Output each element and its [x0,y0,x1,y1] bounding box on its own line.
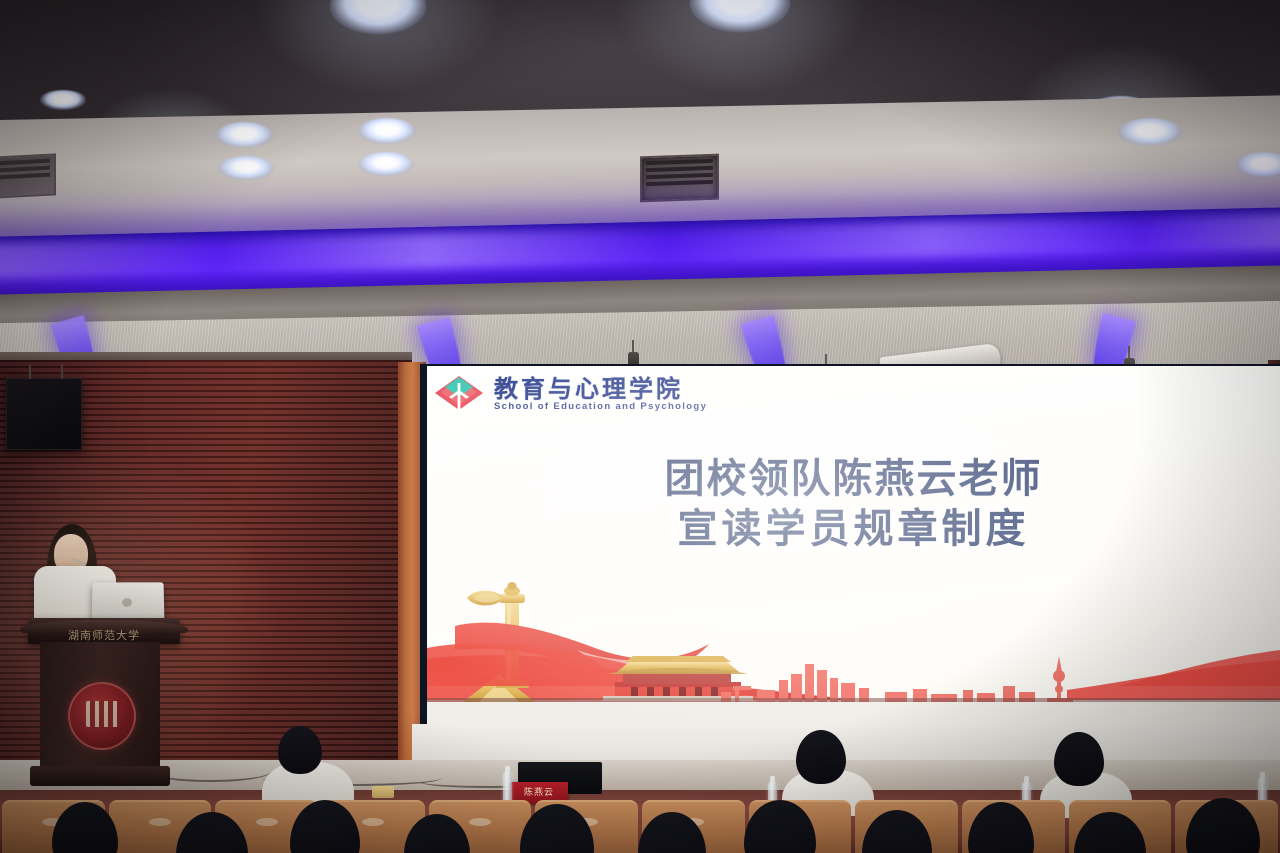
recessed-downlight [330,0,426,34]
slide-logo: 教育与心理学院 School of Education and Psycholo… [433,374,707,418]
recessed-downlight [40,90,86,110]
slide-artwork [427,564,1280,724]
slide-title-line-2: 宣读学员规章制度 [427,504,1280,554]
floor-cable [150,762,270,782]
auditorium-photo: 教育与心理学院 School of Education and Psycholo… [0,0,1280,853]
ceiling-air-vent [640,154,719,203]
slide-title: 团校领队陈燕云老师 宣读学员规章制度 [427,454,1280,553]
school-crest-icon [433,374,485,418]
podium-top: 湖南师范大学 [28,618,180,644]
recessed-downlight [358,118,416,144]
audience-member-head [278,726,322,774]
ceiling-air-vent [0,153,56,198]
audience-member-head [1054,732,1104,786]
stage-connector-box [372,786,394,798]
recessed-downlight [690,0,790,32]
recessed-downlight [218,156,274,180]
recessed-downlight [1118,118,1182,146]
slide-title-line-1: 团校领队陈燕云老师 [427,454,1280,504]
recessed-downlight [358,152,414,176]
school-name-en: School of Education and Psychology [494,402,707,412]
projection-screen[interactable]: 教育与心理学院 School of Education and Psycholo… [427,366,1280,724]
recessed-downlight [215,122,273,148]
school-name-cn: 教育与心理学院 [494,377,707,401]
podium-base [30,766,170,786]
podium-engraved-text: 湖南师范大学 [28,627,180,643]
wall-loudspeaker [6,378,82,450]
laptop[interactable] [92,582,165,622]
audience-member-head [796,730,846,784]
university-crest-icon [68,682,136,750]
